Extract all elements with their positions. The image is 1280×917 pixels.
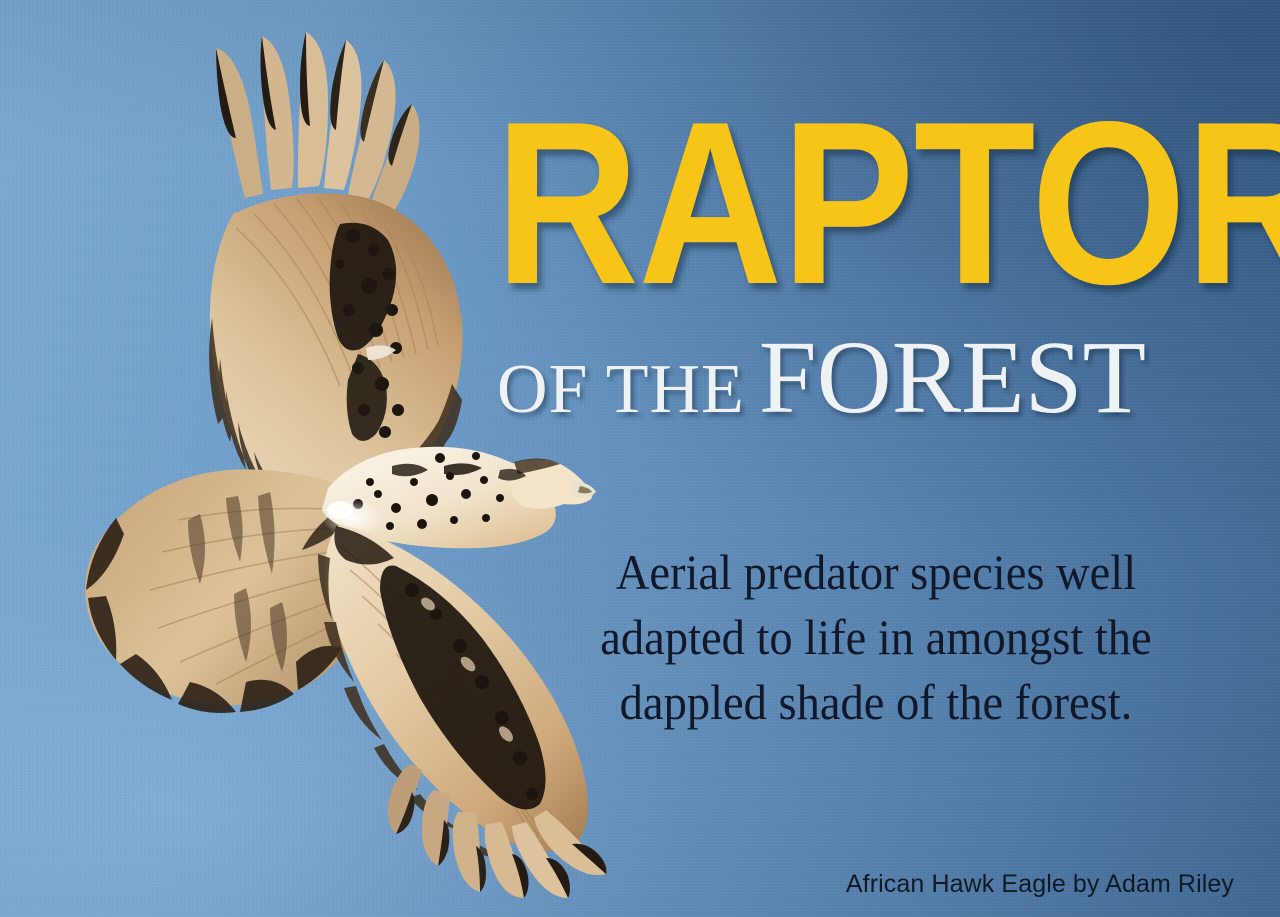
- upper-wing-primaries: [216, 32, 420, 218]
- description-line-2: adapted to life in amongst the: [545, 605, 1207, 670]
- page-title: RAPTORS: [495, 104, 1123, 304]
- poster-canvas: RAPTORS OF THEFOREST Aerial predator spe…: [0, 0, 1280, 917]
- subtitle-small-text: OF THE: [497, 351, 745, 428]
- page-subtitle: OF THEFOREST: [497, 326, 1227, 430]
- photo-credit: African Hawk Eagle by Adam Riley: [846, 870, 1234, 899]
- subtitle-large-text: FOREST: [759, 320, 1146, 435]
- description-line-3: dappled shade of the forest.: [545, 670, 1207, 735]
- description-text: Aerial predator species well adapted to …: [545, 540, 1207, 735]
- description-line-1: Aerial predator species well: [545, 540, 1207, 605]
